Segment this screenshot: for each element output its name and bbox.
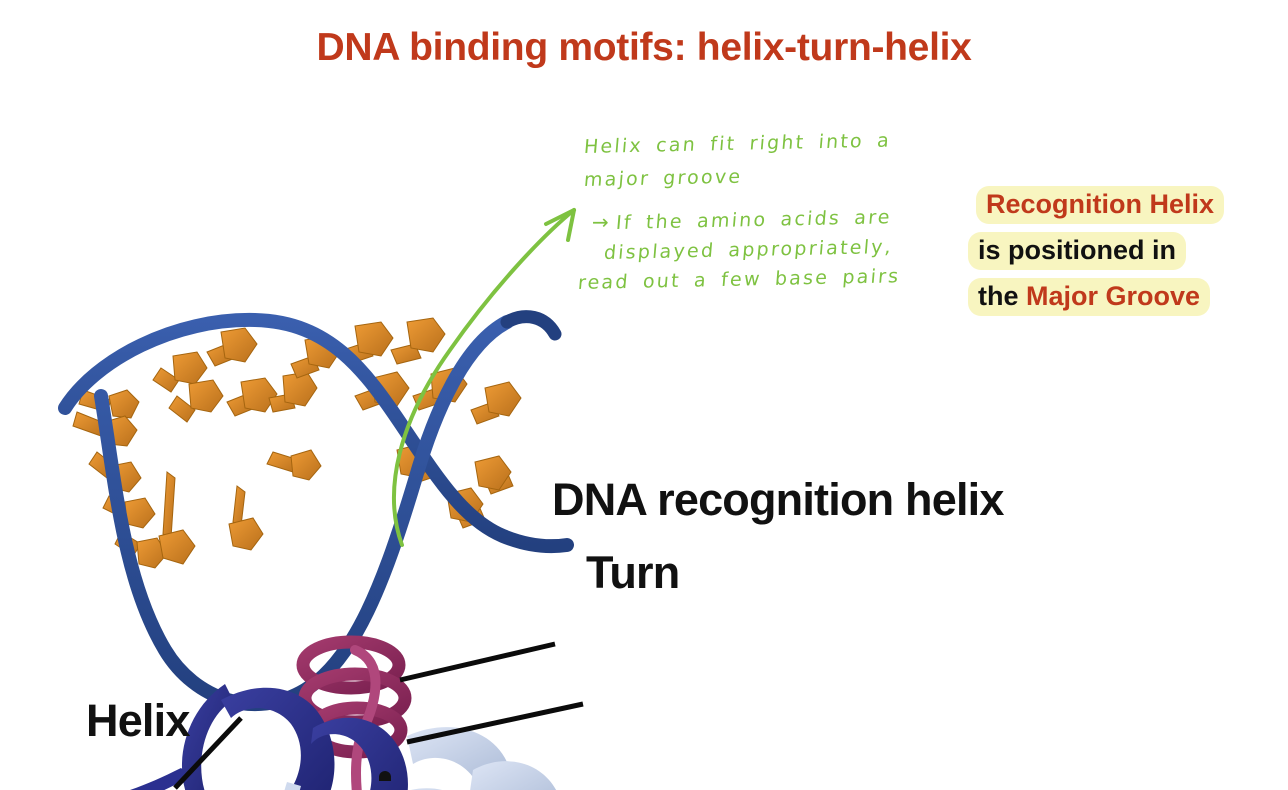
annotation-p2-line1: If the amino acids are xyxy=(615,206,893,234)
annotation-p1-line2: major groove xyxy=(583,166,743,191)
annotation-p2-line2: displayed appropriately, xyxy=(603,236,894,264)
annotation-p2-line3: read out a few base pairs xyxy=(577,265,901,294)
page-title: DNA binding motifs: helix-turn-helix xyxy=(0,26,1288,70)
slide-canvas: DNA binding motifs: helix-turn-helix xyxy=(0,0,1288,788)
annotation-p1-line1: Helix can fit right into a xyxy=(583,130,892,158)
leader-line-turn xyxy=(407,704,583,742)
figure-label-helix: Helix xyxy=(86,698,190,743)
dna-base-group xyxy=(73,318,521,568)
callout-line-is-positioned-in: is positioned in xyxy=(968,232,1186,270)
figure-label-dna-recognition-helix: DNA recognition helix xyxy=(552,477,1004,522)
callout-line3-prefix: the xyxy=(978,281,1026,311)
recognition-helix-callout: Recognition Helix is positioned in the M… xyxy=(968,186,1288,324)
dna-strand-cap xyxy=(507,317,555,334)
leader-line-recognition-helix xyxy=(400,644,555,680)
annotation-arrow-glyph-icon: → xyxy=(592,210,609,234)
callout-line-recognition-helix: Recognition Helix xyxy=(976,186,1224,224)
cropped-bottom-mark xyxy=(379,771,391,781)
callout-line3-accent: Major Groove xyxy=(1026,281,1200,311)
callout-line-the-major-groove: the Major Groove xyxy=(968,278,1210,316)
figure-label-turn: Turn xyxy=(586,550,679,595)
